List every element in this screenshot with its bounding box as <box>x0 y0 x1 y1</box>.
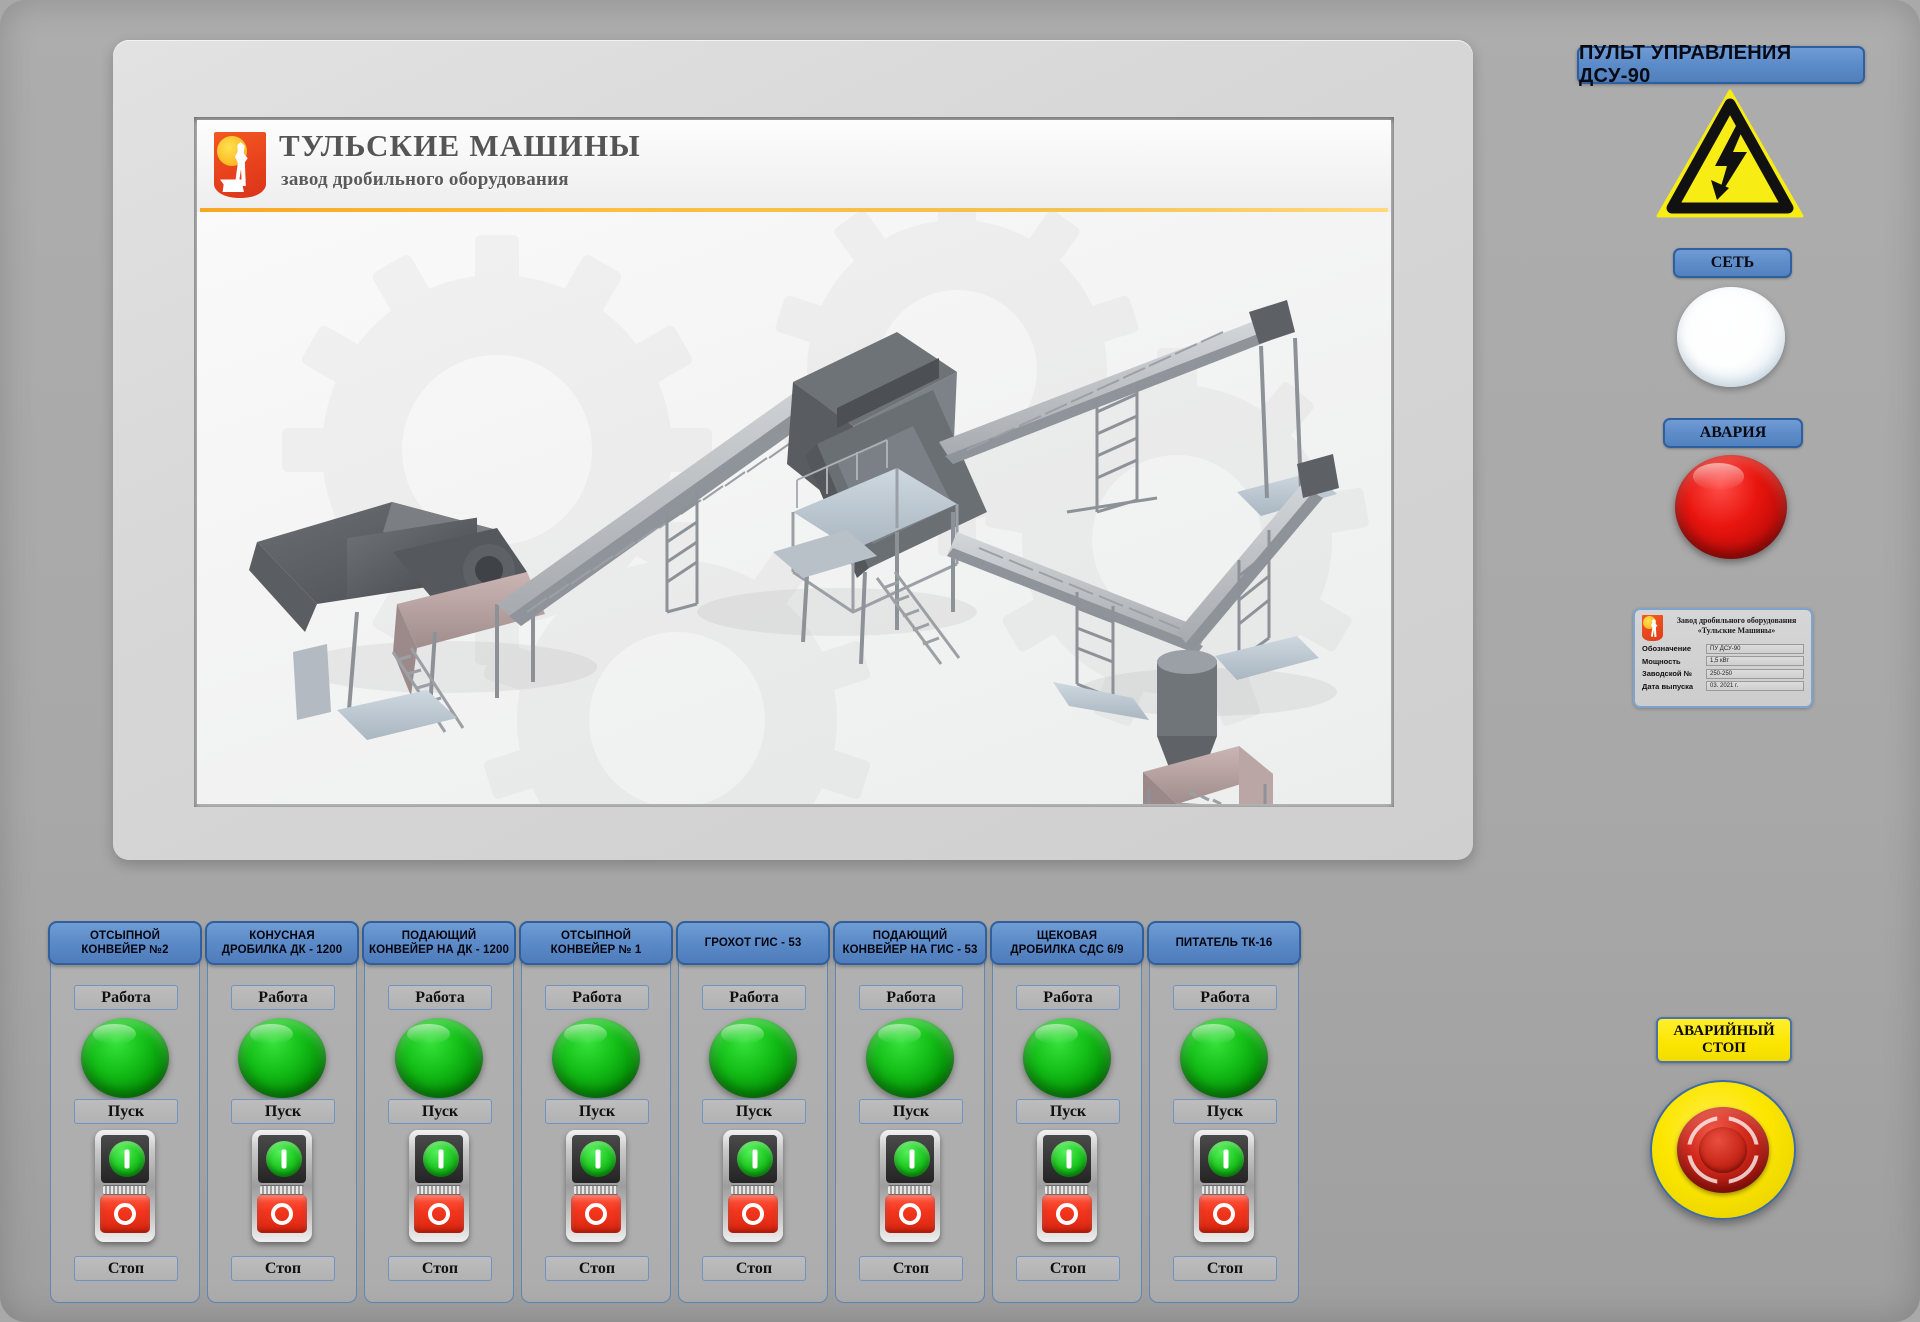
button-label-slot <box>103 1185 147 1195</box>
equipment-nameplate: Завод дробильного оборудования «Тульские… <box>1633 608 1813 708</box>
nameplate-company-line2: «Тульские Машины» <box>1669 626 1804 636</box>
screen-header: ТУЛЬСКИЕ МАШИНЫ завод дробильного оборуд… <box>197 120 1391 212</box>
nameplate-row: ОбозначениеПУ ДСУ-90 <box>1642 644 1804 654</box>
header-divider <box>200 208 1388 212</box>
nameplate-key: Обозначение <box>1642 644 1706 653</box>
equipment-module: ЩЕКОВАЯДРОБИЛКА СДС 6/9РаботаПускСтоп <box>992 933 1142 1303</box>
module-start-label: Пуск <box>702 1099 806 1124</box>
module-stop-button[interactable] <box>257 1195 307 1233</box>
module-start-button[interactable] <box>580 1141 616 1177</box>
module-start-stop-button-unit <box>252 1130 312 1242</box>
module-start-stop-button-unit <box>95 1130 155 1242</box>
equipment-control-modules: ОТСЫПНОЙКОНВЕЙЕР №2РаботаПускСтопКОНУСНА… <box>0 905 1920 1305</box>
module-title: ПОДАЮЩИЙКОНВЕЙЕР НА ГИС - 53 <box>833 921 987 965</box>
module-stop-button[interactable] <box>885 1195 935 1233</box>
network-indicator-lamp[interactable] <box>1677 287 1785 387</box>
module-stop-label: Стоп <box>231 1256 335 1281</box>
emergency-stop-head <box>1677 1107 1769 1193</box>
module-start-label: Пуск <box>1173 1099 1277 1124</box>
emergency-stop-label-line2: СТОП <box>1702 1040 1746 1057</box>
nameplate-row: Заводской №250-250 <box>1642 669 1804 679</box>
module-start-button[interactable] <box>423 1141 459 1177</box>
button-label-slot <box>417 1185 461 1195</box>
module-title: ПОДАЮЩИЙКОНВЕЙЕР НА ДК - 1200 <box>362 921 516 965</box>
module-stop-label: Стоп <box>388 1256 492 1281</box>
network-status-label: СЕТЬ <box>1673 248 1792 278</box>
module-stop-button[interactable] <box>571 1195 621 1233</box>
module-running-lamp[interactable] <box>1180 1018 1268 1098</box>
module-start-label: Пуск <box>1016 1099 1120 1124</box>
module-start-button[interactable] <box>266 1141 302 1177</box>
module-start-label: Пуск <box>74 1099 178 1124</box>
brand-subtitle: завод дробильного оборудования <box>281 169 569 191</box>
module-stop-label: Стоп <box>702 1256 806 1281</box>
nameplate-company: Завод дробильного оборудования «Тульские… <box>1669 615 1804 636</box>
equipment-module: ПОДАЮЩИЙКОНВЕЙЕР НА ГИС - 53РаботаПускСт… <box>835 933 985 1303</box>
nameplate-company-line1: Завод дробильного оборудования <box>1669 616 1804 626</box>
module-title: ПИТАТЕЛЬ ТК-16 <box>1147 921 1301 965</box>
module-start-stop-button-unit <box>1194 1130 1254 1242</box>
module-running-lamp[interactable] <box>238 1018 326 1098</box>
module-start-label: Пуск <box>859 1099 963 1124</box>
module-title: ГРОХОТ ГИС - 53 <box>676 921 830 965</box>
button-label-slot <box>1202 1185 1246 1195</box>
equipment-module: ОТСЫПНОЙКОНВЕЙЕР №2РаботаПускСтоп <box>50 933 200 1303</box>
module-start-button[interactable] <box>1051 1141 1087 1177</box>
button-label-slot <box>731 1185 775 1195</box>
module-stop-label: Стоп <box>1173 1256 1277 1281</box>
nameplate-row: Дата выпуска03. 2021 г. <box>1642 681 1804 691</box>
module-stop-button[interactable] <box>1042 1195 1092 1233</box>
module-stop-label: Стоп <box>74 1256 178 1281</box>
nameplate-value: ПУ ДСУ-90 <box>1706 644 1804 654</box>
module-title: ОТСЫПНОЙКОНВЕЙЕР №2 <box>48 921 202 965</box>
tula-machines-logo-icon <box>214 132 266 198</box>
module-stop-button[interactable] <box>1199 1195 1249 1233</box>
module-running-label: Работа <box>859 985 963 1010</box>
emergency-stop-label-line1: АВАРИЙНЫЙ <box>1673 1023 1774 1040</box>
equipment-module: ГРОХОТ ГИС - 53РаботаПускСтоп <box>678 933 828 1303</box>
module-start-stop-button-unit <box>409 1130 469 1242</box>
nameplate-value: 03. 2021 г. <box>1706 681 1804 691</box>
module-stop-label: Стоп <box>1016 1256 1120 1281</box>
alarm-status-label: АВАРИЯ <box>1663 418 1803 448</box>
module-title: ЩЕКОВАЯДРОБИЛКА СДС 6/9 <box>990 921 1144 965</box>
module-stop-button[interactable] <box>728 1195 778 1233</box>
module-start-button[interactable] <box>737 1141 773 1177</box>
module-running-lamp[interactable] <box>395 1018 483 1098</box>
module-start-button[interactable] <box>894 1141 930 1177</box>
button-label-slot <box>260 1185 304 1195</box>
module-stop-label: Стоп <box>545 1256 649 1281</box>
hmi-screen[interactable]: ТУЛЬСКИЕ МАШИНЫ завод дробильного оборуд… <box>197 120 1391 804</box>
module-running-label: Работа <box>1016 985 1120 1010</box>
module-start-label: Пуск <box>545 1099 649 1124</box>
screen-bezel: ТУЛЬСКИЕ МАШИНЫ завод дробильного оборуд… <box>194 117 1394 807</box>
module-stop-label: Стоп <box>859 1256 963 1281</box>
module-running-label: Работа <box>231 985 335 1010</box>
equipment-module: КОНУСНАЯДРОБИЛКА ДК - 1200РаботаПускСтоп <box>207 933 357 1303</box>
module-start-stop-button-unit <box>723 1130 783 1242</box>
brand-title: ТУЛЬСКИЕ МАШИНЫ <box>279 128 641 164</box>
alarm-indicator-lamp[interactable] <box>1675 455 1787 559</box>
page-title: ПУЛЬТ УПРАВЛЕНИЯ ДСУ-90 <box>1577 46 1865 84</box>
nameplate-logo-icon <box>1642 615 1663 641</box>
module-running-label: Работа <box>1173 985 1277 1010</box>
emergency-stop-arrows-icon <box>1687 1116 1759 1184</box>
module-start-button[interactable] <box>1208 1141 1244 1177</box>
nameplate-key: Дата выпуска <box>1642 682 1706 691</box>
module-stop-button[interactable] <box>100 1195 150 1233</box>
equipment-module: ОТСЫПНОЙКОНВЕЙЕР № 1РаботаПускСтоп <box>521 933 671 1303</box>
control-panel-enclosure: ТУЛЬСКИЕ МАШИНЫ завод дробильного оборуд… <box>0 0 1920 1322</box>
module-running-lamp[interactable] <box>81 1018 169 1098</box>
module-start-label: Пуск <box>231 1099 335 1124</box>
nameplate-value: 1,5 кВт <box>1706 656 1804 666</box>
module-running-label: Работа <box>702 985 806 1010</box>
module-running-lamp[interactable] <box>866 1018 954 1098</box>
equipment-module: ПИТАТЕЛЬ ТК-16РаботаПускСтоп <box>1149 933 1299 1303</box>
nameplate-key: Мощность <box>1642 657 1706 666</box>
button-label-slot <box>888 1185 932 1195</box>
module-running-label: Работа <box>545 985 649 1010</box>
module-start-stop-button-unit <box>880 1130 940 1242</box>
nameplate-row: Мощность1,5 кВт <box>1642 656 1804 666</box>
module-start-button[interactable] <box>109 1141 145 1177</box>
module-stop-button[interactable] <box>414 1195 464 1233</box>
module-running-label: Работа <box>388 985 492 1010</box>
module-start-label: Пуск <box>388 1099 492 1124</box>
module-title: ОТСЫПНОЙКОНВЕЙЕР № 1 <box>519 921 673 965</box>
hmi-monitor: ТУЛЬСКИЕ МАШИНЫ завод дробильного оборуд… <box>113 40 1473 860</box>
nameplate-value: 250-250 <box>1706 669 1804 679</box>
emergency-stop-label: АВАРИЙНЫЙ СТОП <box>1656 1017 1792 1063</box>
emergency-stop-button[interactable] <box>1650 1080 1796 1220</box>
module-running-lamp[interactable] <box>1023 1018 1111 1098</box>
electrical-hazard-icon <box>1655 88 1805 220</box>
equipment-module: ПОДАЮЩИЙКОНВЕЙЕР НА ДК - 1200РаботаПускС… <box>364 933 514 1303</box>
button-label-slot <box>574 1185 618 1195</box>
crushing-plant-illustration <box>197 212 1391 804</box>
module-title: КОНУСНАЯДРОБИЛКА ДК - 1200 <box>205 921 359 965</box>
button-label-slot <box>1045 1185 1089 1195</box>
nameplate-rows: ОбозначениеПУ ДСУ-90Мощность1,5 кВтЗавод… <box>1642 644 1804 692</box>
module-start-stop-button-unit <box>566 1130 626 1242</box>
module-running-lamp[interactable] <box>552 1018 640 1098</box>
module-running-lamp[interactable] <box>709 1018 797 1098</box>
module-running-label: Работа <box>74 985 178 1010</box>
nameplate-key: Заводской № <box>1642 669 1706 678</box>
module-start-stop-button-unit <box>1037 1130 1097 1242</box>
